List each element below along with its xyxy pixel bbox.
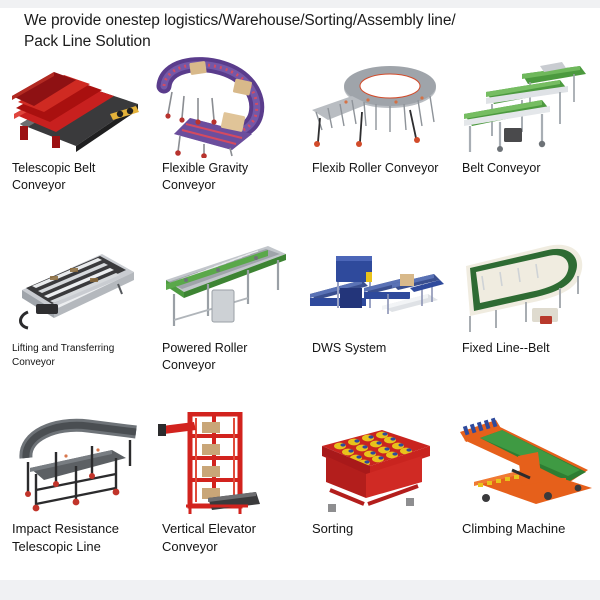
product-cell-fixed-line-belt[interactable]: Fixed Line--Belt <box>450 228 600 408</box>
product-label: Telescopic Belt Conveyor <box>12 160 152 194</box>
product-cell-sorting-table[interactable]: Sorting <box>300 408 450 588</box>
product-label: Fixed Line--Belt <box>462 340 600 357</box>
product-cell-telescopic-belt-conveyor[interactable]: Telescopic Belt Conveyor <box>0 48 150 228</box>
lifting-transferring-conveyor-image[interactable] <box>6 232 146 338</box>
product-label: Sorting <box>312 520 452 538</box>
product-label: Climbing Machine <box>462 520 600 538</box>
product-label: Flexib Roller Conveyor <box>312 160 452 177</box>
belt-conveyor-image[interactable] <box>456 52 596 158</box>
product-label: Lifting and Transferring Conveyor <box>12 342 152 370</box>
telescopic-belt-conveyor-image[interactable] <box>6 52 146 158</box>
product-cell-climbing-machine[interactable]: Climbing Machine <box>450 408 600 588</box>
product-label: Impact Resistance Telescopic Line <box>12 520 152 555</box>
product-row: Impact Resistance Telescopic Line <box>0 408 600 588</box>
vertical-elevator-conveyor-image[interactable] <box>156 412 296 518</box>
product-label: Flexible Gravity Conveyor <box>162 160 302 194</box>
powered-roller-conveyor-image[interactable] <box>156 232 296 338</box>
product-cell-powered-roller-conveyor[interactable]: Powered Roller Conveyor <box>150 228 300 408</box>
product-cell-dws-system[interactable]: DWS System <box>300 228 450 408</box>
product-label: Belt Conveyor <box>462 160 600 177</box>
flexib-roller-conveyor-image[interactable] <box>306 52 446 158</box>
sorting-table-image[interactable] <box>306 412 446 518</box>
product-cell-belt-conveyor[interactable]: Belt Conveyor <box>450 48 600 228</box>
product-cell-impact-resistance-telescopic-line[interactable]: Impact Resistance Telescopic Line <box>0 408 150 588</box>
page-headline: We provide onestep logistics/Warehouse/S… <box>24 10 580 50</box>
product-catalog-page: We provide onestep logistics/Warehouse/S… <box>0 0 600 600</box>
product-label: Vertical Elevator Conveyor <box>162 520 302 555</box>
product-label: DWS System <box>312 340 452 357</box>
product-row: Lifting and Transferring Conveyor <box>0 228 600 408</box>
product-row: Telescopic Belt Conveyor <box>0 48 600 228</box>
dws-system-image[interactable] <box>306 232 446 338</box>
product-cell-lifting-transferring-conveyor[interactable]: Lifting and Transferring Conveyor <box>0 228 150 408</box>
impact-resistance-telescopic-line-image[interactable] <box>6 412 146 518</box>
fixed-line-belt-image[interactable] <box>456 232 596 338</box>
product-cell-vertical-elevator-conveyor[interactable]: Vertical Elevator Conveyor <box>150 408 300 588</box>
product-label: Powered Roller Conveyor <box>162 340 302 374</box>
flexible-gravity-conveyor-image[interactable] <box>156 52 296 158</box>
product-grid: Telescopic Belt Conveyor <box>0 48 600 588</box>
headline-line-1: We provide onestep logistics/Warehouse/S… <box>24 10 580 31</box>
product-cell-flexible-gravity-conveyor[interactable]: Flexible Gravity Conveyor <box>150 48 300 228</box>
climbing-machine-image[interactable] <box>456 412 596 518</box>
product-cell-flexib-roller-conveyor[interactable]: Flexib Roller Conveyor <box>300 48 450 228</box>
